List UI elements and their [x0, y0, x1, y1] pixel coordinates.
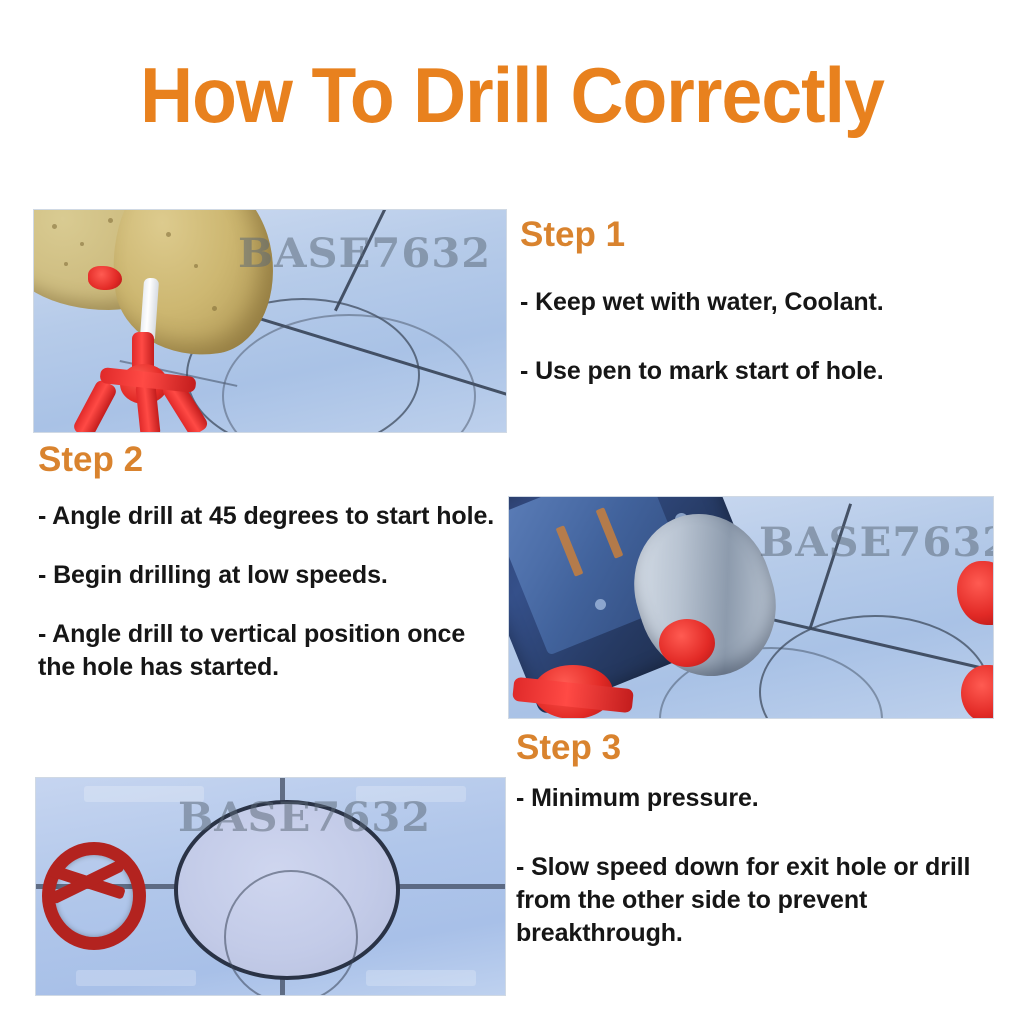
page-title: How To Drill Correctly — [31, 52, 994, 138]
drill-guide-jig — [70, 328, 230, 432]
jig-leg — [72, 378, 119, 432]
step3-bullet-2: - Slow speed down for exit hole or drill… — [516, 851, 1006, 950]
hole-inner-crack — [224, 870, 358, 995]
sponge-speck — [64, 262, 68, 266]
step3-photo: BASE7632 — [36, 778, 505, 995]
step2-bullet-3: - Angle drill to vertical position once … — [38, 618, 506, 684]
tile-edge — [366, 970, 476, 986]
poster-root: How To Drill Correctly — [0, 0, 1024, 1024]
step3-bullets: - Minimum pressure. - Slow speed down fo… — [516, 782, 1006, 950]
potato-speck — [194, 264, 198, 268]
step2-photo: BASE7632 — [509, 497, 993, 718]
sponge-speck — [80, 242, 84, 246]
step1-heading: Step 1 — [520, 215, 625, 255]
step1-bullet-1: - Keep wet with water, Coolant. — [520, 286, 1020, 319]
tile-edge — [76, 970, 196, 986]
jig-clip — [88, 266, 122, 290]
step2-bullet-2: - Begin drilling at low speeds. — [38, 559, 506, 592]
jig-hub — [659, 619, 715, 667]
step3-photo-scene: BASE7632 — [36, 778, 505, 995]
potato-speck — [212, 306, 217, 311]
step1-bullet-2: - Use pen to mark start of hole. — [520, 355, 1020, 388]
potato-speck — [166, 232, 171, 237]
step2-heading: Step 2 — [38, 440, 143, 480]
step1-photo-scene: BASE7632 — [34, 210, 506, 432]
step2-bullet-1: - Angle drill at 45 degrees to start hol… — [38, 500, 506, 533]
watermark: BASE7632 — [178, 798, 431, 838]
sponge-speck — [108, 218, 113, 223]
watermark: BASE7632 — [238, 234, 491, 274]
step1-photo: BASE7632 — [34, 210, 506, 432]
step3-bullet-1: - Minimum pressure. — [516, 782, 1006, 815]
watermark: BASE7632 — [759, 523, 993, 563]
drill-highlight-dot — [595, 599, 606, 610]
step2-bullets: - Angle drill at 45 degrees to start hol… — [38, 500, 506, 684]
step3-heading: Step 3 — [516, 728, 621, 768]
step1-bullets: - Keep wet with water, Coolant. - Use pe… — [520, 286, 1020, 388]
sponge-speck — [52, 224, 57, 229]
step2-photo-scene: BASE7632 — [509, 497, 993, 718]
